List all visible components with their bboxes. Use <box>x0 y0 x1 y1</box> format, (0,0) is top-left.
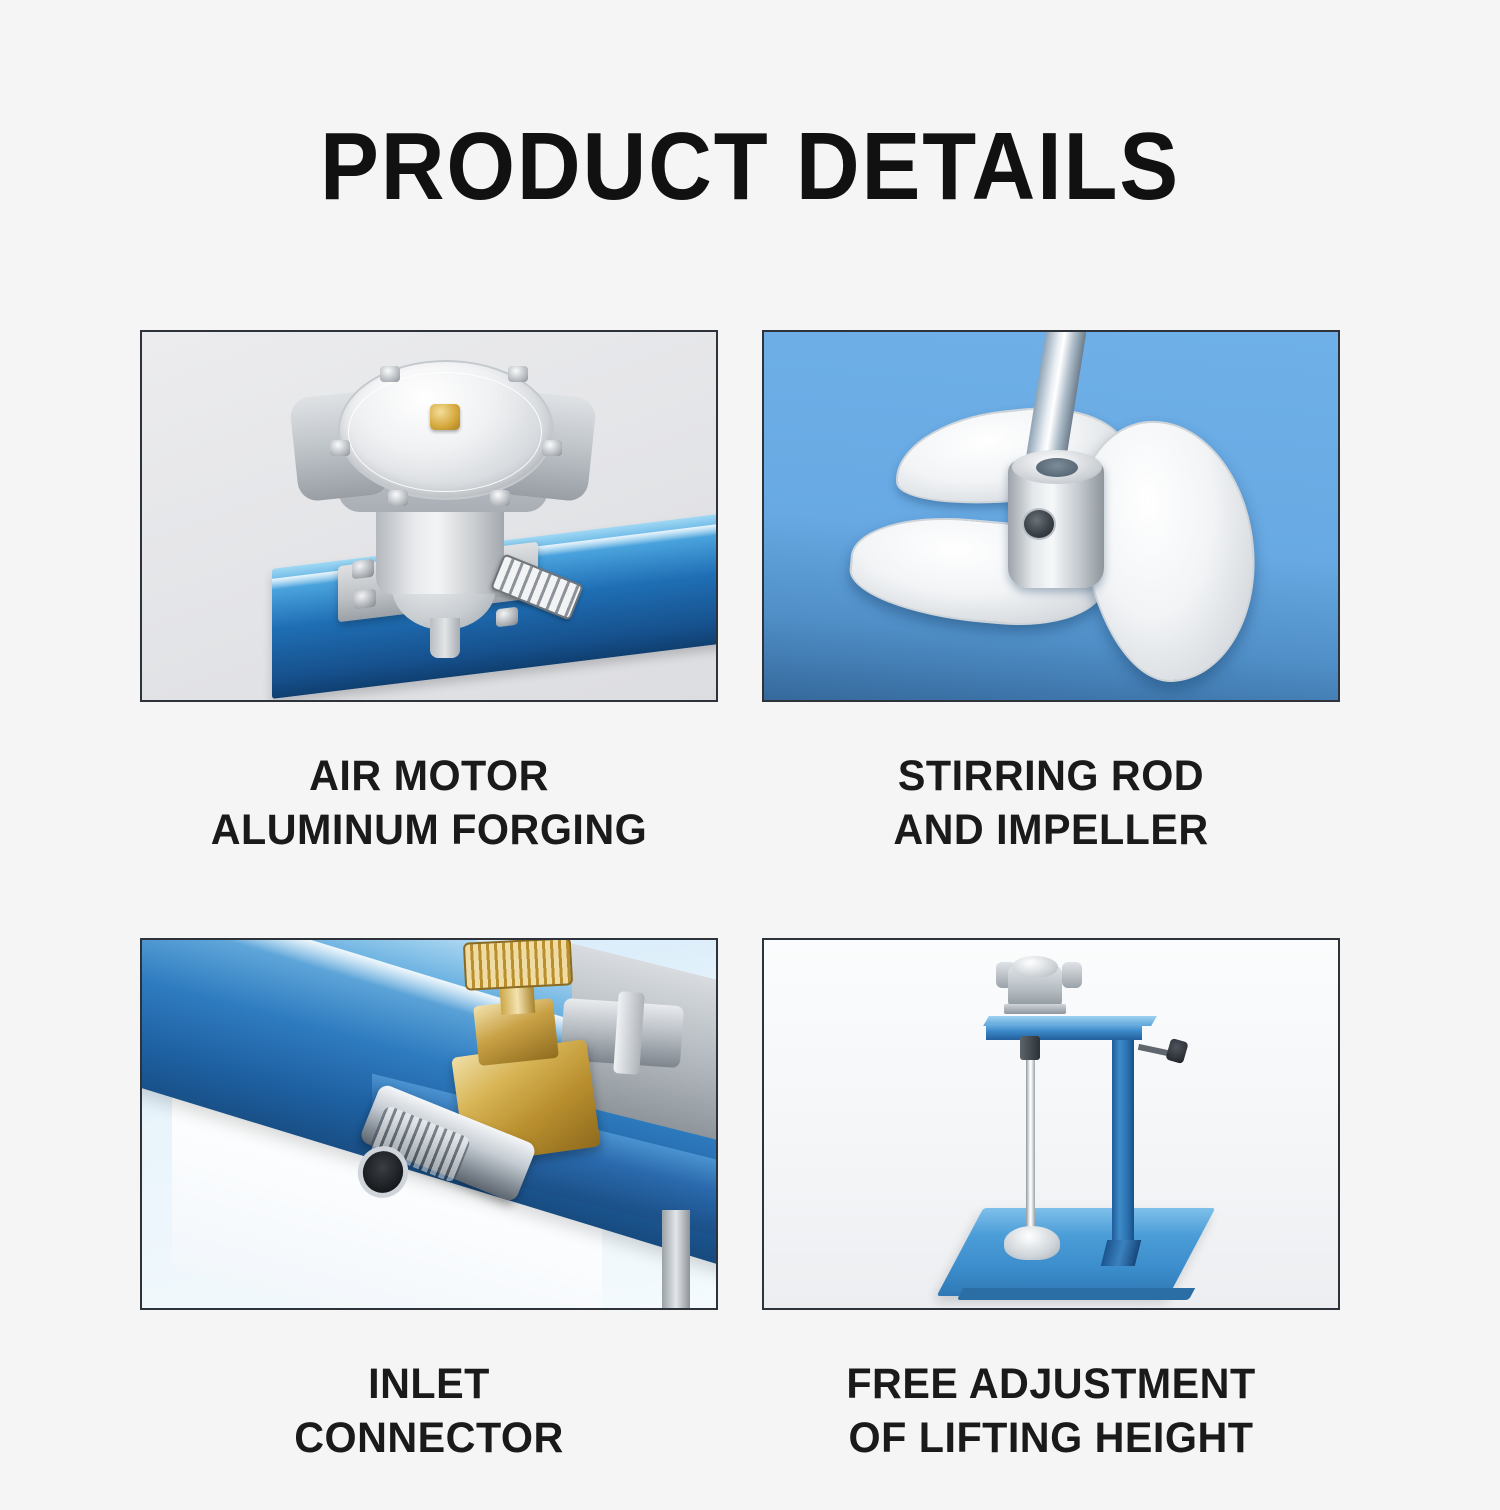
vertical-column <box>1112 1032 1134 1262</box>
housing-screw-icon <box>330 440 350 456</box>
horizontal-arm <box>986 1024 1142 1040</box>
column-foot <box>1101 1240 1141 1266</box>
caption-line-2: AND IMPELLER <box>774 804 1329 858</box>
housing-screw-icon <box>380 366 400 382</box>
motor-output-stub <box>430 618 460 658</box>
housing-screw-icon <box>388 490 408 506</box>
feature-grid: AIR MOTOR ALUMINUM FORGING <box>140 330 1340 1510</box>
motor-lobe-right <box>1062 962 1082 988</box>
caption-line-1: FREE ADJUSTMENT <box>846 1360 1255 1408</box>
motor-cap-rim <box>348 372 542 492</box>
housing-screw-icon <box>508 366 528 382</box>
brass-plug-icon <box>430 404 460 430</box>
inlet-connector-photo <box>140 938 718 1310</box>
stand-leg <box>662 1210 690 1308</box>
stand-base-plate <box>937 1208 1216 1296</box>
housing-screw-icon <box>542 440 562 456</box>
stirring-rod-impeller-photo <box>762 330 1340 702</box>
feature-caption: FREE ADJUSTMENT OF LIFTING HEIGHT <box>774 1358 1329 1466</box>
feature-card-inlet-connector: INLET CONNECTOR <box>140 938 718 1466</box>
caption-line-1: INLET <box>368 1360 490 1408</box>
feature-card-lifting-height: FREE ADJUSTMENT OF LIFTING HEIGHT <box>762 938 1340 1466</box>
product-details-page: PRODUCT DETAILS <box>0 0 1500 1500</box>
caption-line-2: ALUMINUM FORGING <box>152 804 707 858</box>
air-motor-foot <box>1004 1004 1066 1014</box>
feature-caption: AIR MOTOR ALUMINUM FORGING <box>152 750 707 858</box>
caption-line-1: AIR MOTOR <box>309 752 549 800</box>
base-bolt-icon <box>354 589 376 610</box>
caption-line-1: STIRRING ROD <box>898 752 1204 800</box>
feature-caption: STIRRING ROD AND IMPELLER <box>774 750 1329 858</box>
caption-line-2: OF LIFTING HEIGHT <box>774 1412 1329 1466</box>
feature-card-stirring-rod: STIRRING ROD AND IMPELLER <box>762 330 1340 858</box>
stand-base-edge <box>957 1288 1195 1300</box>
page-title: PRODUCT DETAILS <box>60 112 1440 222</box>
housing-screw-icon <box>490 490 510 506</box>
shaft-clamp <box>1020 1036 1040 1060</box>
feature-caption: INLET CONNECTOR <box>152 1358 707 1466</box>
base-bolt-icon <box>496 607 518 628</box>
impeller-hub-bore <box>1036 458 1078 477</box>
caption-line-2: CONNECTOR <box>152 1412 707 1466</box>
base-bolt-icon <box>352 559 374 580</box>
full-mixer-stand-photo <box>762 938 1340 1310</box>
air-motor-photo <box>140 330 718 702</box>
air-motor-cap <box>1012 956 1058 978</box>
knurled-adjust-knob <box>463 940 573 991</box>
impeller-assembly <box>1004 1226 1060 1260</box>
set-screw-icon <box>1022 508 1056 540</box>
mixer-shaft <box>1026 1040 1035 1238</box>
feature-card-air-motor: AIR MOTOR ALUMINUM FORGING <box>140 330 718 858</box>
